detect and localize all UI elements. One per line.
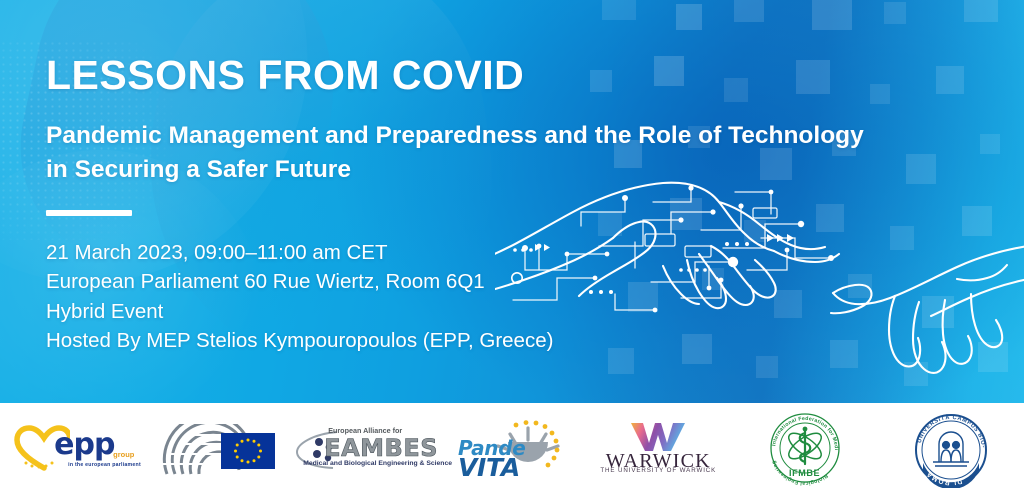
ifmbe-acronym: IFMBE <box>765 468 845 478</box>
eambes-bottom-line: Medical and Biological Engineering & Sci… <box>303 460 452 467</box>
event-host: Hosted By MEP Stelios Kympouropoulos (EP… <box>46 326 976 356</box>
epp-wordmark: epp <box>54 427 114 462</box>
mosaic-square <box>602 0 636 20</box>
logo-slot-warwick: WARWICK THE UNIVERSITY OF WARWICK <box>585 403 731 495</box>
logo-slot-european-parliament <box>146 403 292 495</box>
university-of-warwick-logo: WARWICK THE UNIVERSITY OF WARWICK <box>599 423 717 475</box>
page-subtitle: Pandemic Management and Preparedness and… <box>46 119 971 187</box>
mosaic-square <box>734 0 764 22</box>
event-format: Hybrid Event <box>46 297 976 327</box>
eambes-acronym: EAMBES <box>324 434 438 462</box>
event-details: 21 March 2023, 09:00–11:00 am CET Europe… <box>46 238 976 356</box>
event-banner: LESSONS FROM COVID Pandemic Management a… <box>0 0 1024 495</box>
pandevita-word-bottom: VITA <box>458 453 520 482</box>
page-title: LESSONS FROM COVID <box>46 54 976 97</box>
epp-tagline: in the european parliament <box>68 462 141 468</box>
ucbm-seal-icon: UNIVERSITÀ CAMPUS BIO-MEDICO DI ROMA <box>911 410 991 488</box>
logo-slot-eambes: European Alliance for EAMBES Medical and… <box>293 403 439 495</box>
epp-group-logo: epp group in the european parliament <box>14 423 132 475</box>
pandevita-logo: Pande VITA <box>456 420 568 478</box>
logo-slot-pandevita: Pande VITA <box>439 403 585 495</box>
logo-slot-epp: epp group in the european parliament <box>0 403 146 495</box>
event-venue: European Parliament 60 Rue Wiertz, Room … <box>46 267 976 297</box>
mosaic-square <box>812 0 852 30</box>
mosaic-square <box>884 2 906 24</box>
universita-campus-bio-medico-di-roma-logo: UNIVERSITÀ CAMPUS BIO-MEDICO DI ROMA <box>911 410 991 488</box>
divider-rule <box>46 210 132 216</box>
subtitle-line-2: in Securing a Safer Future <box>46 153 971 187</box>
hero-background: LESSONS FROM COVID Pandemic Management a… <box>0 0 1024 403</box>
logo-slot-ucbm: UNIVERSITÀ CAMPUS BIO-MEDICO DI ROMA <box>878 403 1024 495</box>
mosaic-square <box>964 0 998 22</box>
epp-group-label: group <box>113 450 134 459</box>
european-parliament-logo <box>159 422 279 476</box>
warwick-w-icon <box>631 423 685 451</box>
mosaic-square <box>676 4 702 30</box>
eambes-logo: European Alliance for EAMBES Medical and… <box>293 424 438 474</box>
partner-logo-bar: epp group in the european parliament <box>0 403 1024 495</box>
eu-flag-icon <box>221 433 275 469</box>
hero-text-block: LESSONS FROM COVID Pandemic Management a… <box>46 54 976 356</box>
logo-slot-ifmbe: International Federation for Medical and… <box>731 403 877 495</box>
warwick-subline: THE UNIVERSITY OF WARWICK <box>599 467 717 474</box>
event-datetime: 21 March 2023, 09:00–11:00 am CET <box>46 238 976 268</box>
ifmbe-logo: International Federation for Medical and… <box>765 410 845 488</box>
subtitle-line-1: Pandemic Management and Preparedness and… <box>46 119 971 153</box>
